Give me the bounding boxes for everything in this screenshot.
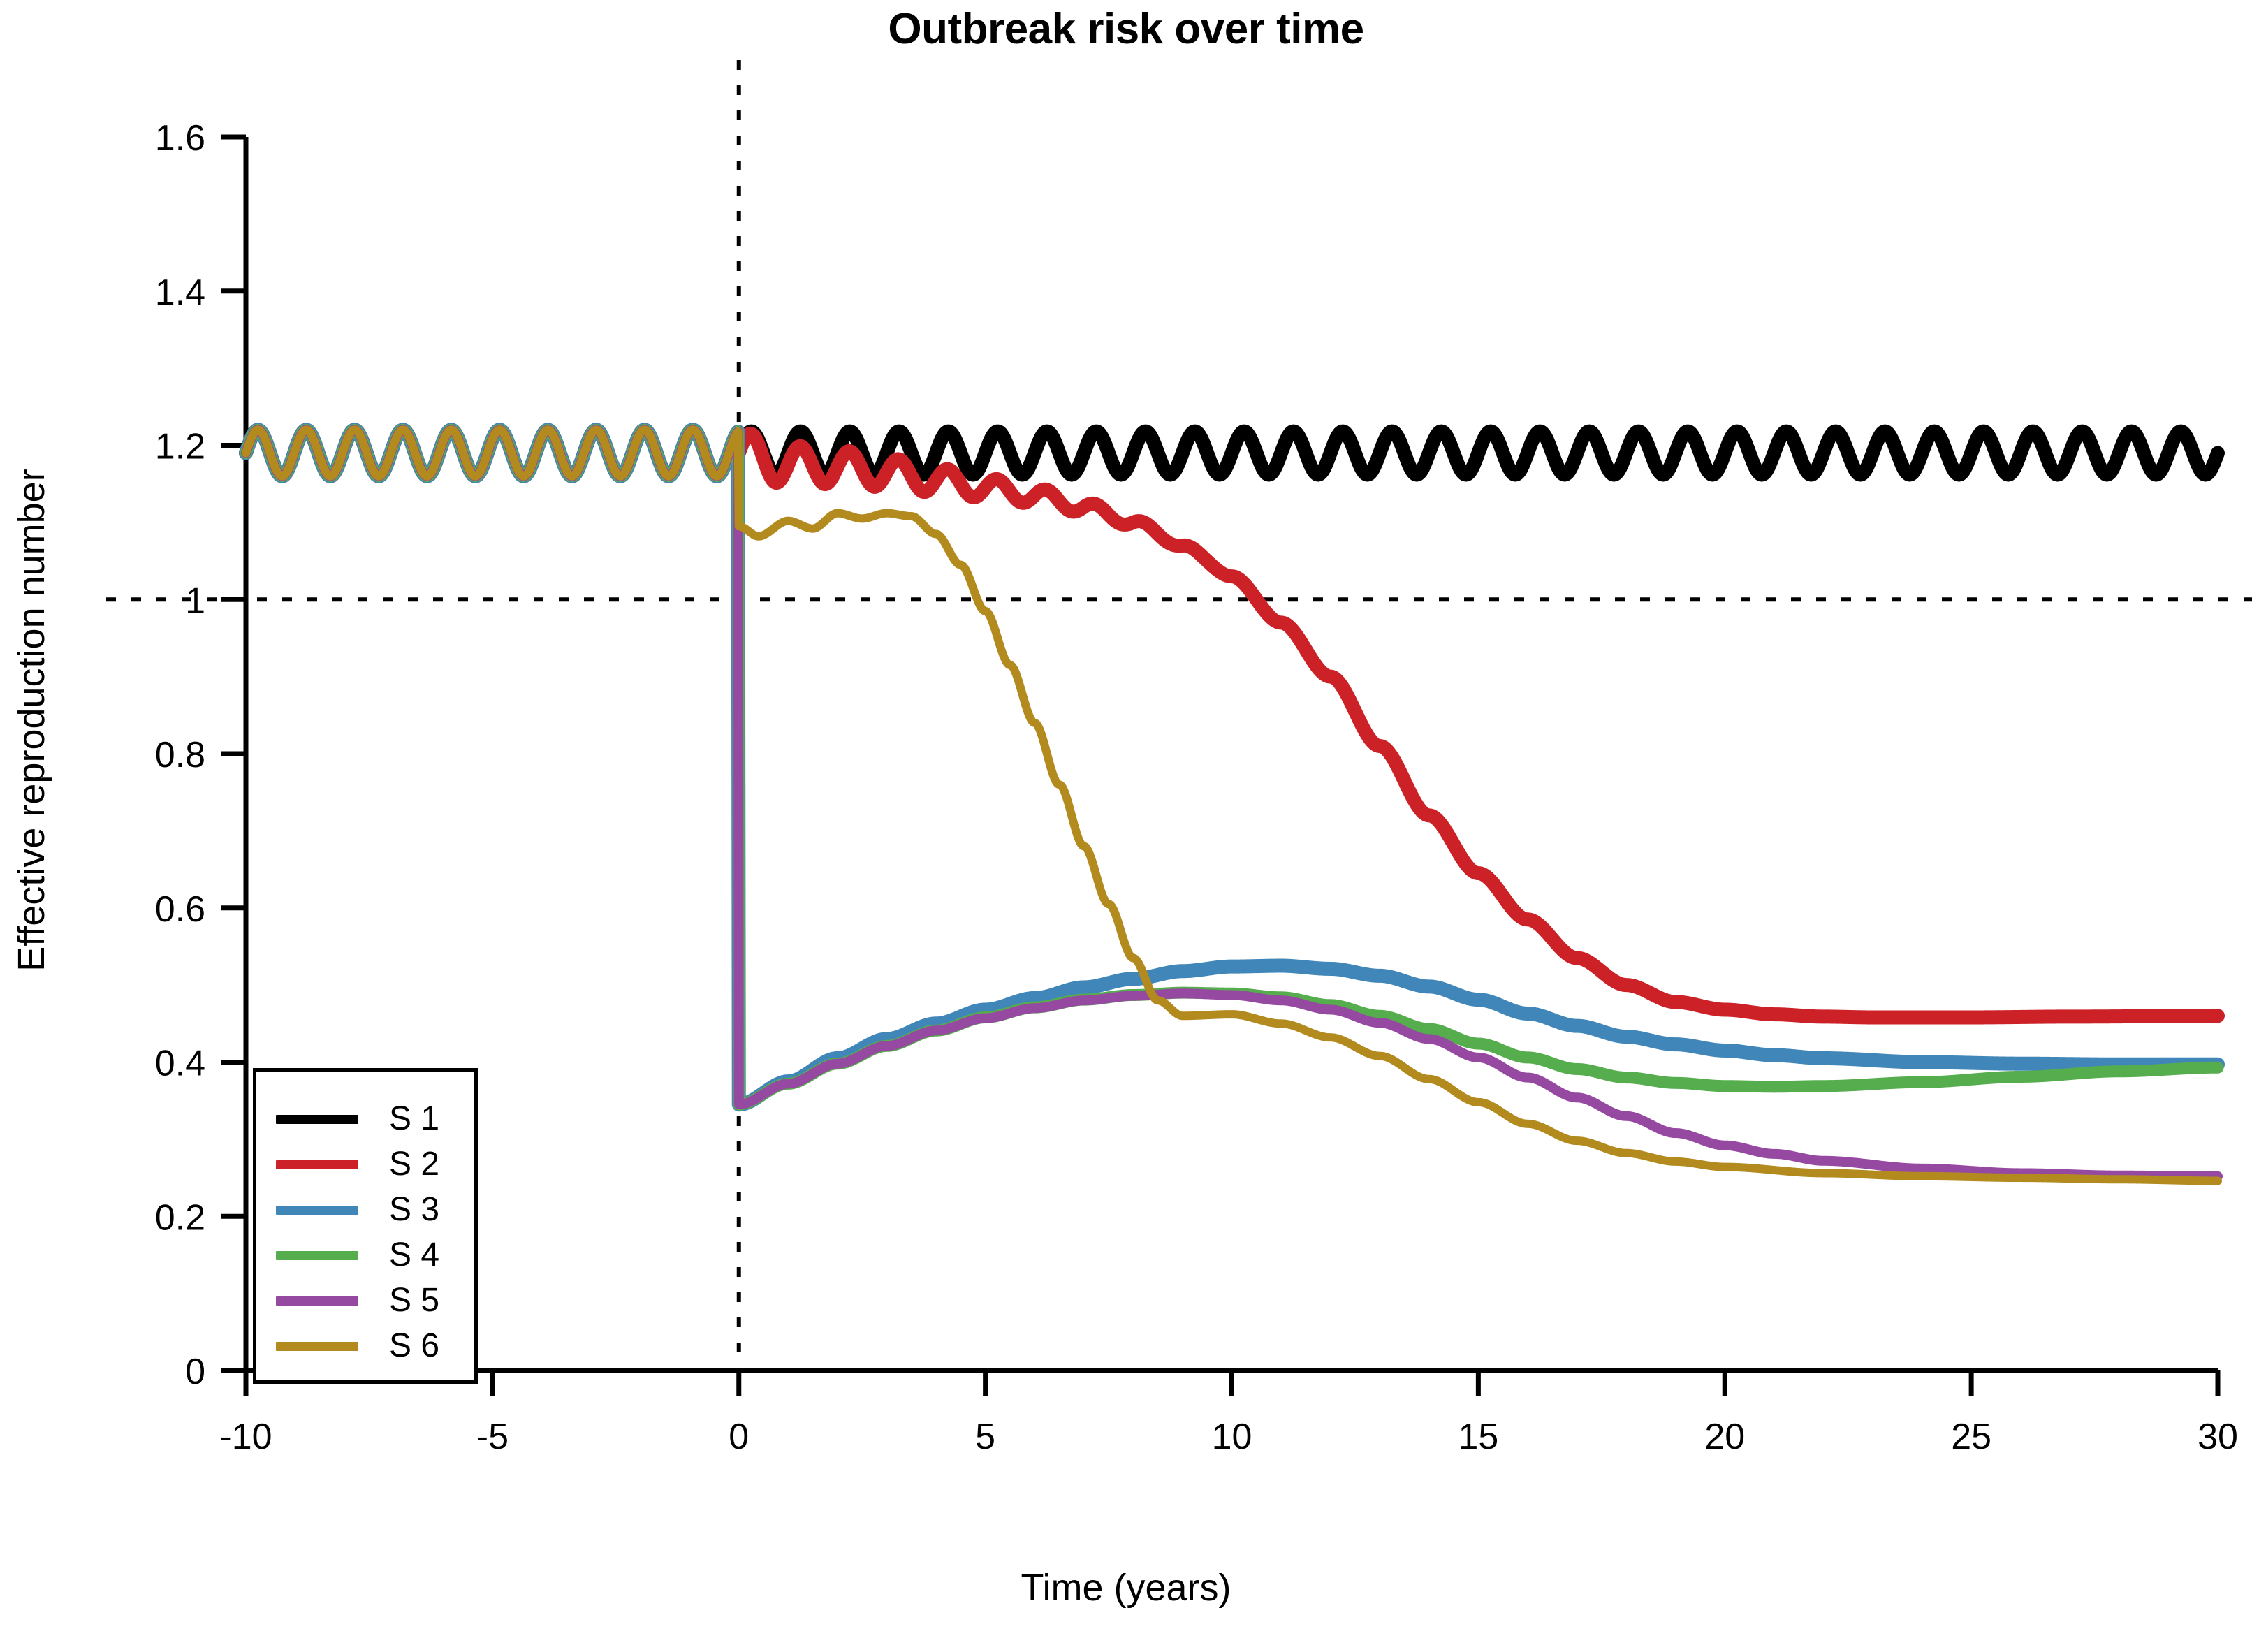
y-axis-tick-label: 0.2 [155,1197,205,1238]
y-axis-tick-label: 0.8 [155,735,205,775]
y-axis-tick-label: 1.2 [155,427,205,467]
x-axis-tick-label: 15 [1458,1417,1498,1457]
y-axis-tick-label: 0 [185,1352,205,1392]
y-axis-tick-label: 1 [185,580,205,621]
y-axis-tick-label: 1.4 [155,272,205,313]
legend-swatch [276,1296,358,1306]
legend-swatch [276,1206,358,1215]
x-axis-tick-label: 25 [1951,1417,1991,1457]
legend-item-label: S 1 [389,1099,439,1138]
y-axis-tick-label: 0.4 [155,1044,205,1084]
x-axis-tick-label: -5 [476,1417,509,1457]
x-axis-tick-label: 0 [729,1417,749,1457]
legend-item-label: S 2 [389,1145,439,1183]
series-line-s-4 [246,430,2218,1104]
legend-item[interactable]: S 5 [256,1277,474,1322]
series-layer [246,430,2218,1180]
axes-layer [221,137,2218,1396]
x-axis-tick-label: 30 [2198,1417,2238,1457]
legend-swatch [276,1160,358,1169]
x-axis-tick-label: 5 [975,1417,995,1457]
y-axis-tick-label: 0.6 [155,889,205,930]
series-line-s-3 [246,430,2218,1104]
legend-swatch [276,1115,358,1124]
legend-item[interactable]: S 6 [256,1322,474,1368]
legend-item-label: S 5 [389,1281,439,1320]
plot-area: 00.20.40.60.811.21.41.6-10-5051015202530 [0,0,2252,1652]
x-axis-tick-label: -10 [219,1417,272,1457]
chart-root: Outbreak risk over time Effective reprod… [0,0,2252,1652]
legend-swatch [276,1251,358,1260]
legend-item-label: S 6 [389,1326,439,1365]
x-axis-tick-label: 10 [1212,1417,1252,1457]
series-line-s-2 [246,430,2218,1017]
x-axis-tick-label: 20 [1704,1417,1745,1457]
legend-item[interactable]: S 4 [256,1231,474,1277]
y-axis-tick-label: 1.6 [155,118,205,159]
legend-item[interactable]: S 3 [256,1186,474,1231]
legend-item-label: S 3 [389,1190,439,1229]
legend-swatch [276,1342,358,1351]
legend-item[interactable]: S 2 [256,1141,474,1186]
legend-item-label: S 4 [389,1236,439,1274]
legend-item[interactable]: S 1 [256,1095,474,1141]
legend: S 1S 2S 3S 4S 5S 6 [253,1068,478,1384]
